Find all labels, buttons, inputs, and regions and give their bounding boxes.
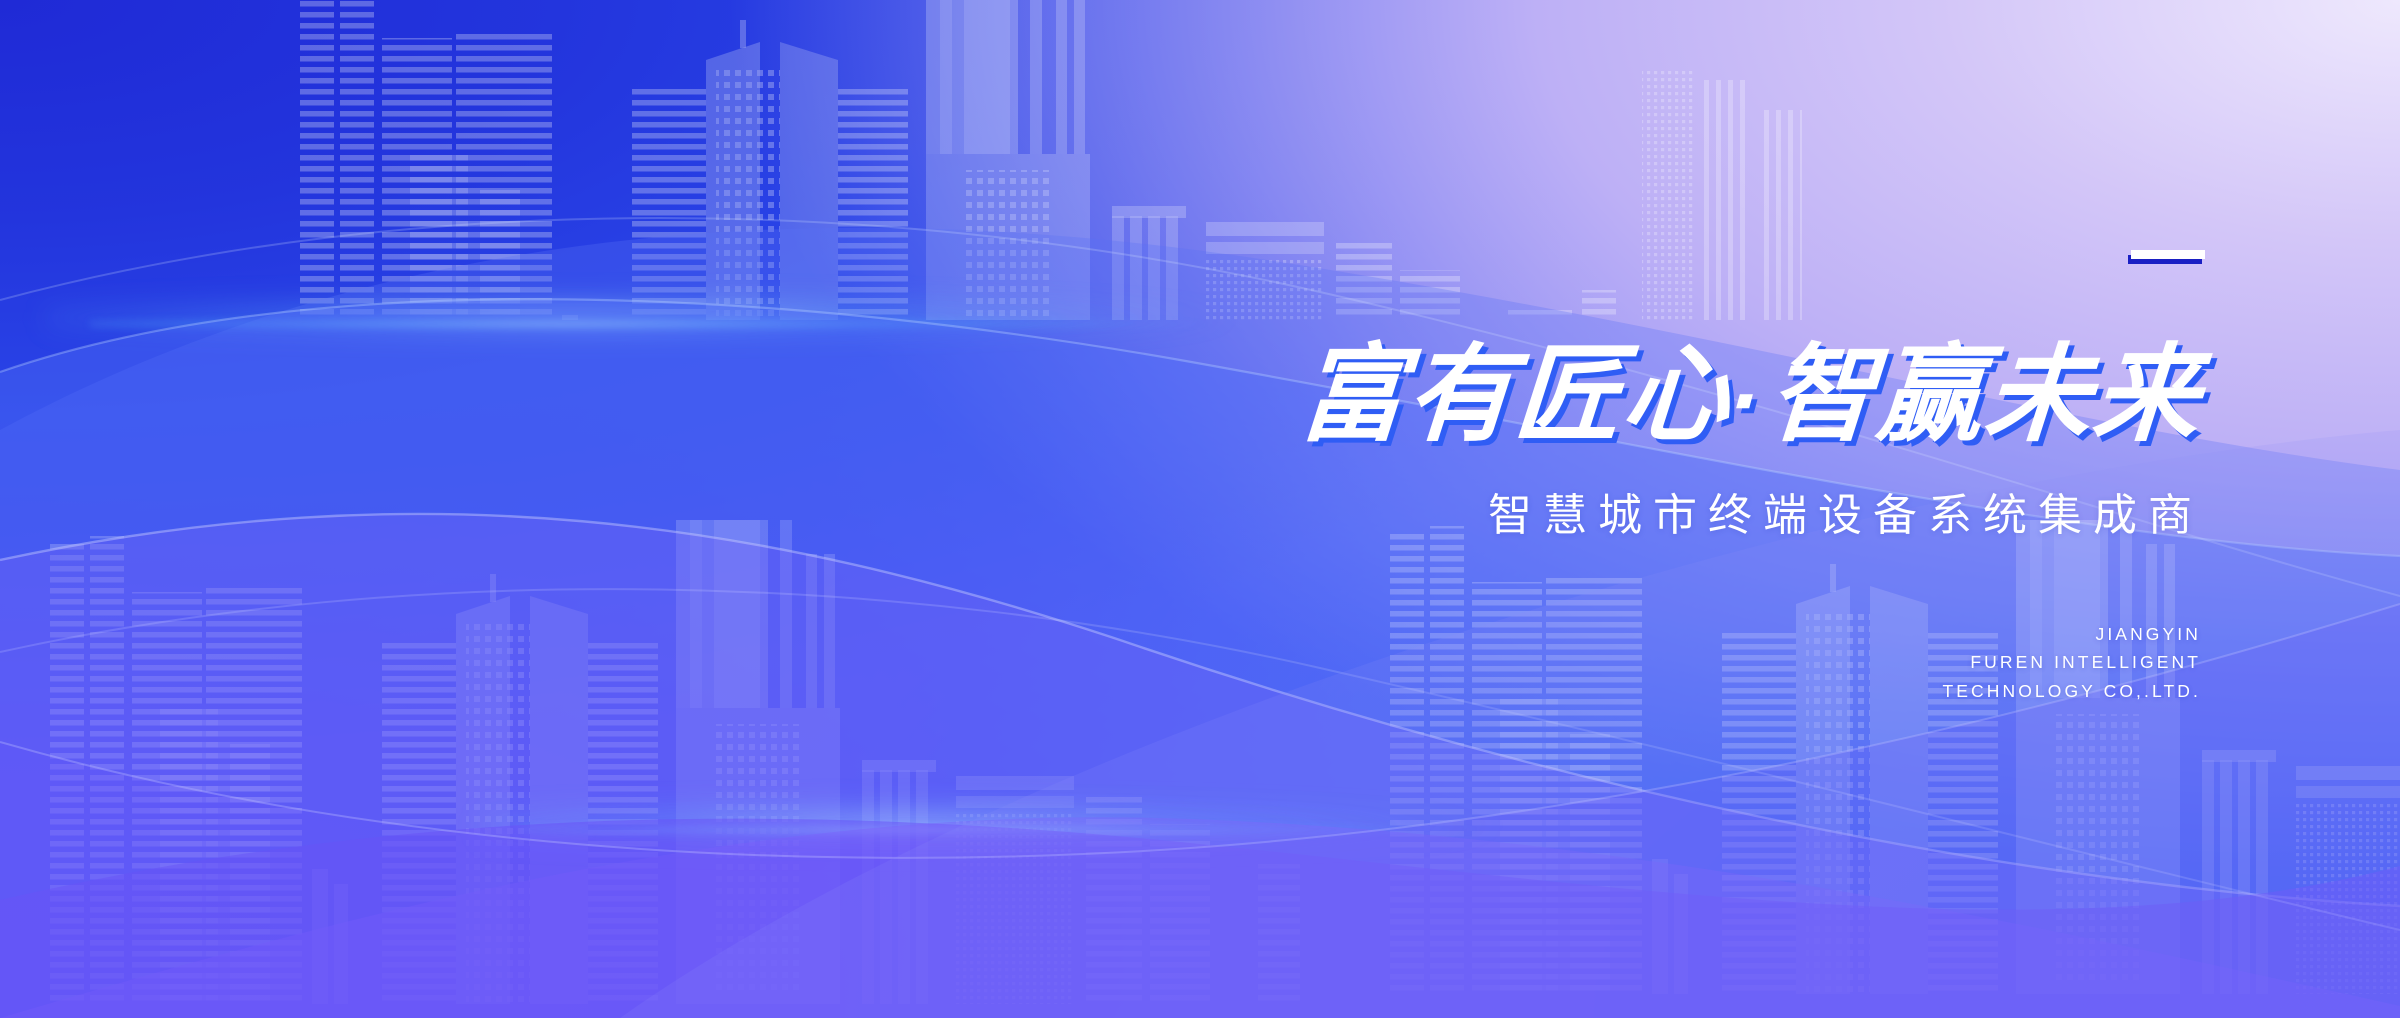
company-line-2: FUREN INTELLIGENT (1025, 648, 2201, 676)
company-line-1: JIANGYIN (1025, 620, 2201, 648)
promo-banner: 富有匠心·智赢未来 智慧城市终端设备系统集成商 JIANGYIN FUREN I… (0, 0, 2400, 1018)
headline-separator-dot: · (1727, 359, 1771, 445)
page-subtitle: 智慧城市终端设备系统集成商 (1025, 494, 2205, 538)
company-line-3: TECHNOLOGY CO,.LTD. (1025, 677, 2201, 705)
decorative-rule (2131, 250, 2205, 259)
company-name-block: JIANGYIN FUREN INTELLIGENT TECHNOLOGY CO… (1025, 620, 2205, 705)
banner-text-block: 富有匠心·智赢未来 智慧城市终端设备系统集成商 JIANGYIN FUREN I… (1025, 250, 2205, 705)
headline-part-2: 智赢未来 (1765, 333, 2206, 456)
headline-part-1: 富有匠心 (1295, 333, 1736, 456)
page-title: 富有匠心·智赢未来 (1021, 342, 2204, 448)
